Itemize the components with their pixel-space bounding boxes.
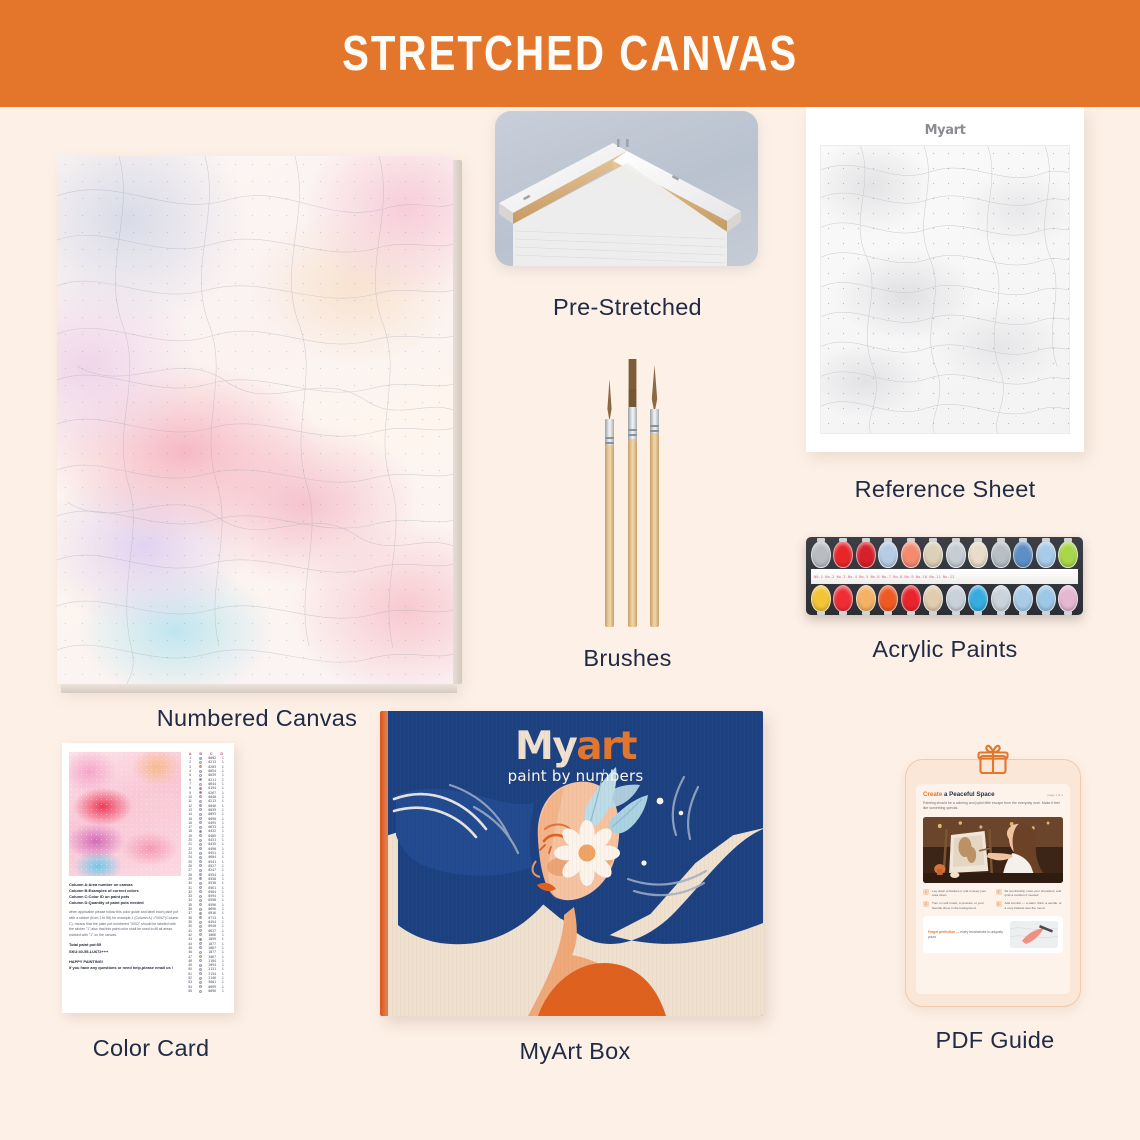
color-swatch bbox=[199, 964, 202, 967]
color-card-swatch-cell bbox=[195, 903, 205, 906]
color-swatch bbox=[199, 899, 202, 902]
brush-flat-handle bbox=[628, 439, 637, 627]
color-card-swatch-cell bbox=[195, 942, 205, 945]
paint-pot-lid bbox=[856, 585, 876, 612]
color-swatch bbox=[199, 800, 202, 803]
color-swatch bbox=[199, 770, 202, 773]
color-swatch bbox=[199, 791, 202, 794]
color-card-swatch-cell bbox=[195, 860, 205, 863]
pdf-note-text: Forget perfection — every brushstroke is… bbox=[928, 930, 1005, 940]
pdf-guide-frame: Create a Peaceful Space page 1 of 1 Pain… bbox=[905, 759, 1081, 1007]
pdf-note-thumbnail bbox=[1010, 921, 1058, 948]
paint-pot bbox=[968, 585, 988, 612]
reference-sheet-logo: Myart bbox=[820, 123, 1070, 138]
color-card-swatch-cell bbox=[195, 873, 205, 876]
paint-pot-lid bbox=[901, 541, 921, 568]
caption-pre-stretched: Pre-Stretched bbox=[495, 294, 760, 321]
color-card-swatch-cell bbox=[195, 765, 205, 768]
canvas-number-dots bbox=[57, 156, 453, 684]
color-swatch bbox=[199, 830, 202, 833]
paint-pot bbox=[856, 585, 876, 612]
color-swatch bbox=[199, 946, 202, 949]
color-swatch bbox=[199, 757, 202, 760]
paint-pot-tab bbox=[952, 538, 960, 542]
pdf-tip-text: Lay down a blanket or mat to keep your a… bbox=[932, 889, 991, 898]
color-card-swatch-cell bbox=[195, 972, 205, 975]
color-card-swatch-cell bbox=[195, 977, 205, 980]
color-swatch bbox=[199, 968, 202, 971]
color-card-swatch-cell bbox=[195, 985, 205, 988]
pdf-note-bold: Forget perfection bbox=[928, 930, 955, 934]
paint-pot-lid bbox=[1058, 541, 1078, 568]
pdf-page-number: page 1 of 1 bbox=[1048, 793, 1063, 797]
paint-pot-lid bbox=[1013, 541, 1033, 568]
color-card-swatch-cell bbox=[195, 990, 205, 993]
brush-round-ferrule bbox=[650, 409, 659, 435]
color-card-swatch-cell bbox=[195, 899, 205, 902]
color-swatch bbox=[199, 860, 202, 863]
canvas-side-edge bbox=[453, 160, 462, 684]
reference-sheet-paper: Myart bbox=[806, 107, 1084, 452]
paint-pot-tab bbox=[1064, 538, 1072, 542]
color-card-table-body: 1000212021313020314005415003916021117064… bbox=[185, 756, 227, 993]
product-color-card: Column A:Area number on canvasColumn B:E… bbox=[62, 743, 240, 1062]
paint-pot-tab bbox=[1042, 611, 1050, 615]
color-swatch bbox=[199, 852, 202, 855]
canvas-bottom-edge bbox=[61, 684, 457, 693]
color-card-swatch-cell bbox=[195, 908, 205, 911]
paint-pot-tab bbox=[907, 611, 915, 615]
brush-round bbox=[650, 365, 659, 627]
box-front-panel: Myart paint by numbers bbox=[388, 711, 763, 1016]
color-card-swatch-cell bbox=[195, 864, 205, 867]
color-swatch bbox=[199, 826, 202, 829]
brush-liner-tip bbox=[605, 379, 614, 421]
product-acrylic-paints: N0.1 No.2 No.3 No.4 No.5 No.6 No.7 No.8 … bbox=[806, 537, 1084, 663]
color-swatch bbox=[199, 903, 202, 906]
color-swatch bbox=[199, 985, 202, 988]
tip-bullet-icon: 4 bbox=[996, 901, 1002, 907]
color-card-swatch-cell bbox=[195, 774, 205, 777]
paint-pot-tab bbox=[862, 538, 870, 542]
paint-tray-label: N0.1 No.2 No.3 No.4 No.5 No.6 No.7 No.8 … bbox=[811, 569, 1078, 584]
pdf-title-rest: a Peaceful Space bbox=[942, 791, 994, 798]
paint-pot-tab bbox=[884, 611, 892, 615]
daisy-flower bbox=[554, 820, 620, 886]
color-swatch bbox=[199, 977, 202, 980]
color-card-swatch-cell bbox=[195, 834, 205, 837]
color-swatch bbox=[199, 912, 202, 915]
color-swatch bbox=[199, 813, 202, 816]
color-card-swatch-cell bbox=[195, 808, 205, 811]
color-swatch bbox=[199, 843, 202, 846]
paint-pot-tab bbox=[839, 538, 847, 542]
color-card-paper: Column A:Area number on canvasColumn B:E… bbox=[62, 743, 234, 1013]
tip-bullet-icon: 3 bbox=[923, 901, 929, 907]
paint-pot bbox=[833, 585, 853, 612]
color-card-swatch-cell bbox=[195, 817, 205, 820]
paint-pot bbox=[991, 585, 1011, 612]
canvas-artwork bbox=[57, 156, 453, 684]
color-card-color-id: 0096 bbox=[206, 989, 219, 993]
paint-pot bbox=[991, 541, 1011, 568]
paint-pot-tab bbox=[817, 611, 825, 615]
paint-pot-lid bbox=[1036, 585, 1056, 612]
brush-liner-handle bbox=[605, 445, 614, 627]
pdf-tip: 1Lay down a blanket or mat to keep your … bbox=[923, 889, 991, 898]
woman-painting-photo-illustration bbox=[923, 817, 1063, 883]
color-card-swatch-cell bbox=[195, 757, 205, 760]
color-swatch bbox=[199, 908, 202, 911]
color-card-artwork bbox=[69, 752, 181, 876]
color-card-swatch-cell bbox=[195, 964, 205, 967]
pdf-guide-page: Create a Peaceful Space page 1 of 1 Pain… bbox=[916, 784, 1070, 994]
color-card-swatch-cell bbox=[195, 869, 205, 872]
paint-pot-lid bbox=[811, 585, 831, 612]
paint-pot-tab bbox=[1019, 611, 1027, 615]
page-header: STRETCHED CANVAS bbox=[0, 0, 1140, 107]
color-card-swatch-cell bbox=[195, 830, 205, 833]
color-card-swatch-cell bbox=[195, 839, 205, 842]
paint-pot-tab bbox=[1019, 538, 1027, 542]
pdf-title-highlight: Create bbox=[923, 791, 942, 798]
paint-pot-lid bbox=[901, 585, 921, 612]
color-card-swatch-cell bbox=[195, 761, 205, 764]
gift-icon bbox=[976, 744, 1010, 781]
paint-pot-lid bbox=[923, 585, 943, 612]
pdf-tip-text: Add comfort — a warm drink, a candle, or… bbox=[1005, 901, 1064, 910]
pdf-guide-photo bbox=[923, 817, 1063, 883]
brushes-image bbox=[500, 337, 755, 627]
color-swatch bbox=[199, 890, 202, 893]
paint-pot bbox=[811, 541, 831, 568]
box-spine-edge bbox=[380, 711, 388, 1016]
brush-round-tip bbox=[650, 365, 659, 413]
paint-pot-row-top bbox=[811, 541, 1078, 568]
paint-pot-lid bbox=[1036, 541, 1056, 568]
brush-round-handle bbox=[650, 433, 659, 627]
paint-pot bbox=[901, 541, 921, 568]
color-swatch bbox=[199, 938, 202, 941]
color-card-swatch-cell bbox=[195, 916, 205, 919]
box-tagline: paint by numbers bbox=[388, 767, 763, 785]
paint-pot bbox=[856, 541, 876, 568]
paint-pot bbox=[878, 585, 898, 612]
canvas-frame-corner-illustration bbox=[495, 111, 758, 266]
color-swatch bbox=[199, 856, 202, 859]
color-card-swatch-cell bbox=[195, 770, 205, 773]
paint-pot-tab bbox=[997, 611, 1005, 615]
brush-flat-ferrule bbox=[628, 407, 637, 441]
color-swatch bbox=[199, 942, 202, 945]
product-numbered-canvas: Numbered Canvas bbox=[57, 156, 457, 732]
paint-pot bbox=[1036, 541, 1056, 568]
paint-tray: N0.1 No.2 No.3 No.4 No.5 No.6 No.7 No.8 … bbox=[806, 537, 1083, 615]
paint-pot-lid bbox=[856, 541, 876, 568]
color-card-swatch-cell bbox=[195, 787, 205, 790]
caption-color-card: Color Card bbox=[62, 1035, 240, 1062]
tip-bullet-icon: 2 bbox=[996, 889, 1002, 895]
color-card-swatch-cell bbox=[195, 921, 205, 924]
color-card-swatch-cell bbox=[195, 925, 205, 928]
color-card-quantity: 1 bbox=[219, 989, 227, 993]
paint-pot-lid bbox=[833, 585, 853, 612]
color-swatch bbox=[199, 817, 202, 820]
tip-bullet-icon: 1 bbox=[923, 889, 929, 895]
color-swatch bbox=[199, 886, 202, 889]
color-card-swatch-cell bbox=[195, 783, 205, 786]
paint-pot-tab bbox=[817, 538, 825, 542]
color-swatch bbox=[199, 839, 202, 842]
color-swatch bbox=[199, 873, 202, 876]
color-swatch bbox=[199, 955, 202, 958]
product-pre-stretched: Pre-Stretched bbox=[495, 111, 760, 321]
paint-pot-lid bbox=[811, 541, 831, 568]
paint-pot bbox=[1013, 585, 1033, 612]
color-swatch bbox=[199, 864, 202, 867]
color-card-swatch-cell bbox=[195, 895, 205, 898]
color-card-swatch-cell bbox=[195, 933, 205, 936]
paint-pot bbox=[878, 541, 898, 568]
caption-pdf-guide: PDF Guide bbox=[905, 1027, 1085, 1054]
paint-pot-lid bbox=[833, 541, 853, 568]
paint-pot-lid bbox=[946, 541, 966, 568]
color-swatch bbox=[199, 929, 202, 932]
paint-pot-tab bbox=[1064, 611, 1072, 615]
color-swatch bbox=[199, 765, 202, 768]
paint-pot-lid bbox=[923, 541, 943, 568]
color-card-swatch-cell bbox=[195, 968, 205, 971]
paint-pot-row-bottom bbox=[811, 585, 1078, 612]
paint-pot-tab bbox=[929, 538, 937, 542]
color-card-swatch-cell bbox=[195, 912, 205, 915]
paint-pot-lid bbox=[878, 541, 898, 568]
color-card-swatch-cell bbox=[195, 886, 205, 889]
pdf-tip-text: Turn on soft music, a podcast, or your f… bbox=[932, 901, 991, 910]
color-card-swatch-cell bbox=[195, 856, 205, 859]
color-card-legend-line: Column D:Quantity of paint pots needed bbox=[69, 900, 181, 906]
logo-art-text: art bbox=[576, 724, 636, 769]
paint-pot bbox=[1058, 585, 1078, 612]
paint-pot-tab bbox=[974, 611, 982, 615]
color-swatch bbox=[199, 778, 202, 781]
paint-pot bbox=[1058, 541, 1078, 568]
brush-liner-ferrule bbox=[605, 419, 614, 447]
color-card-swatch-cell bbox=[195, 946, 205, 949]
paint-pot-tab bbox=[884, 538, 892, 542]
paint-pot-tab bbox=[997, 538, 1005, 542]
color-card-swatch-cell bbox=[195, 938, 205, 941]
color-swatch bbox=[199, 847, 202, 850]
color-swatch bbox=[199, 933, 202, 936]
color-swatch bbox=[199, 783, 202, 786]
caption-brushes: Brushes bbox=[500, 645, 755, 672]
paint-pot-lid bbox=[968, 541, 988, 568]
color-card-table: ABCD 10002120213130203140054150039160211… bbox=[185, 752, 227, 1004]
color-swatch bbox=[199, 925, 202, 928]
color-swatch bbox=[199, 972, 202, 975]
paint-pot bbox=[1013, 541, 1033, 568]
paint-pot-lid bbox=[968, 585, 988, 612]
reference-number-dots bbox=[821, 146, 1069, 433]
color-swatch bbox=[199, 921, 202, 924]
color-swatch bbox=[199, 787, 202, 790]
color-card-instructions: when applicable please follow this color… bbox=[69, 910, 181, 938]
color-swatch bbox=[199, 808, 202, 811]
paint-pot bbox=[946, 585, 966, 612]
color-swatch bbox=[199, 981, 202, 984]
color-swatch bbox=[199, 821, 202, 824]
color-card-swatch-cell bbox=[195, 981, 205, 984]
paint-pot bbox=[901, 585, 921, 612]
color-card-swatch-cell bbox=[195, 795, 205, 798]
color-swatch bbox=[199, 895, 202, 898]
page-title: STRETCHED CANVAS bbox=[342, 26, 798, 82]
brush-flat-tip bbox=[627, 359, 638, 411]
color-card-swatch-cell bbox=[195, 821, 205, 824]
color-card-swatch-cell bbox=[195, 959, 205, 962]
logo-my-text: My bbox=[515, 724, 576, 769]
paint-pot-tab bbox=[839, 611, 847, 615]
paint-pot bbox=[923, 541, 943, 568]
paint-pot-tab bbox=[907, 538, 915, 542]
paint-pot bbox=[1036, 585, 1056, 612]
color-card-swatch-cell bbox=[195, 847, 205, 850]
color-card-swatch-cell bbox=[195, 791, 205, 794]
paint-pot bbox=[946, 541, 966, 568]
color-card-swatch-cell bbox=[195, 882, 205, 885]
color-swatch bbox=[199, 882, 202, 885]
paint-pot-lid bbox=[1058, 585, 1078, 612]
pdf-tip: 2Sit comfortably, relax your shoulders, … bbox=[996, 889, 1064, 898]
paint-pot-tab bbox=[974, 538, 982, 542]
pre-stretched-photo bbox=[495, 111, 758, 266]
paint-pot-lid bbox=[991, 585, 1011, 612]
color-card-swatch-cell bbox=[195, 813, 205, 816]
brush-liner bbox=[605, 379, 614, 627]
canvas-image bbox=[57, 156, 453, 684]
paint-pot-tab bbox=[862, 611, 870, 615]
paint-pot bbox=[968, 541, 988, 568]
color-swatch bbox=[199, 877, 202, 880]
pdf-guide-subtitle: Painting should be a calming and joyful … bbox=[923, 801, 1063, 812]
color-card-column-header: B bbox=[196, 752, 207, 756]
pdf-tip: 4Add comfort — a warm drink, a candle, o… bbox=[996, 901, 1064, 910]
color-card-swatch-cell bbox=[195, 890, 205, 893]
box-branding: Myart paint by numbers bbox=[388, 724, 763, 785]
product-grid: Numbered Canvas bbox=[0, 107, 1140, 1140]
color-card-area-number: 55 bbox=[185, 989, 195, 993]
color-swatch bbox=[199, 869, 202, 872]
paint-pot-tab bbox=[952, 611, 960, 615]
product-reference-sheet: Myart bbox=[806, 107, 1084, 503]
color-card-swatch-cell bbox=[195, 804, 205, 807]
color-card-swatch-cell bbox=[195, 852, 205, 855]
color-card-swatch-cell bbox=[195, 877, 205, 880]
product-pdf-guide: Create a Peaceful Space page 1 of 1 Pain… bbox=[905, 759, 1085, 1054]
paint-pot bbox=[833, 541, 853, 568]
color-card-swatch-cell bbox=[195, 951, 205, 954]
color-swatch bbox=[199, 804, 202, 807]
caption-myart-box: MyArt Box bbox=[380, 1038, 770, 1065]
paint-pot bbox=[811, 585, 831, 612]
caption-acrylic-paints: Acrylic Paints bbox=[806, 636, 1084, 663]
pdf-tip-text: Sit comfortably, relax your shoulders, a… bbox=[1005, 889, 1064, 898]
paint-pot-lid bbox=[991, 541, 1011, 568]
color-card-swatch-cell bbox=[195, 843, 205, 846]
color-card-sku: SKU:40-55-LU672+++ bbox=[69, 949, 181, 955]
color-swatch bbox=[199, 761, 202, 764]
caption-reference-sheet: Reference Sheet bbox=[806, 476, 1084, 503]
color-card-artwork-dots bbox=[69, 752, 181, 876]
color-swatch bbox=[199, 990, 202, 993]
pdf-tip: 3Turn on soft music, a podcast, or your … bbox=[923, 901, 991, 910]
color-card-swatch-cell bbox=[195, 800, 205, 803]
color-card-help-note: if you have any questions or need help,p… bbox=[69, 965, 181, 971]
color-swatch bbox=[199, 959, 202, 962]
color-swatch bbox=[199, 834, 202, 837]
paint-pot-tab bbox=[1042, 538, 1050, 542]
color-card-legend: Column A:Area number on canvasColumn B:E… bbox=[69, 882, 181, 906]
color-card-swatch-cell bbox=[195, 778, 205, 781]
paint-pot-lid bbox=[878, 585, 898, 612]
paint-pot-tab bbox=[929, 611, 937, 615]
color-card-swatch-cell bbox=[195, 955, 205, 958]
brush-flat bbox=[627, 359, 638, 627]
paint-pot-lid bbox=[1013, 585, 1033, 612]
color-swatch bbox=[199, 951, 202, 954]
pdf-guide-note: Forget perfection — every brushstroke is… bbox=[923, 916, 1063, 953]
color-card-row: 5500961 bbox=[185, 989, 227, 993]
reference-sheet-artwork bbox=[820, 145, 1070, 434]
color-swatch bbox=[199, 774, 202, 777]
pdf-guide-tips: 1Lay down a blanket or mat to keep your … bbox=[923, 889, 1063, 911]
color-card-left-column: Column A:Area number on canvasColumn B:E… bbox=[69, 752, 181, 1004]
color-swatch bbox=[199, 795, 202, 798]
product-myart-box: Myart paint by numbers MyArt Box bbox=[380, 711, 770, 1065]
paint-pot-lid bbox=[946, 585, 966, 612]
pdf-guide-header: Create a Peaceful Space page 1 of 1 bbox=[923, 791, 1063, 798]
pdf-guide-title: Create a Peaceful Space bbox=[923, 791, 995, 798]
myart-logo: Myart bbox=[388, 724, 763, 769]
product-brushes: Brushes bbox=[500, 337, 755, 672]
myart-box-image: Myart paint by numbers bbox=[380, 711, 763, 1016]
paint-pot bbox=[923, 585, 943, 612]
color-card-swatch-cell bbox=[195, 929, 205, 932]
color-swatch bbox=[199, 916, 202, 919]
color-card-swatch-cell bbox=[195, 826, 205, 829]
